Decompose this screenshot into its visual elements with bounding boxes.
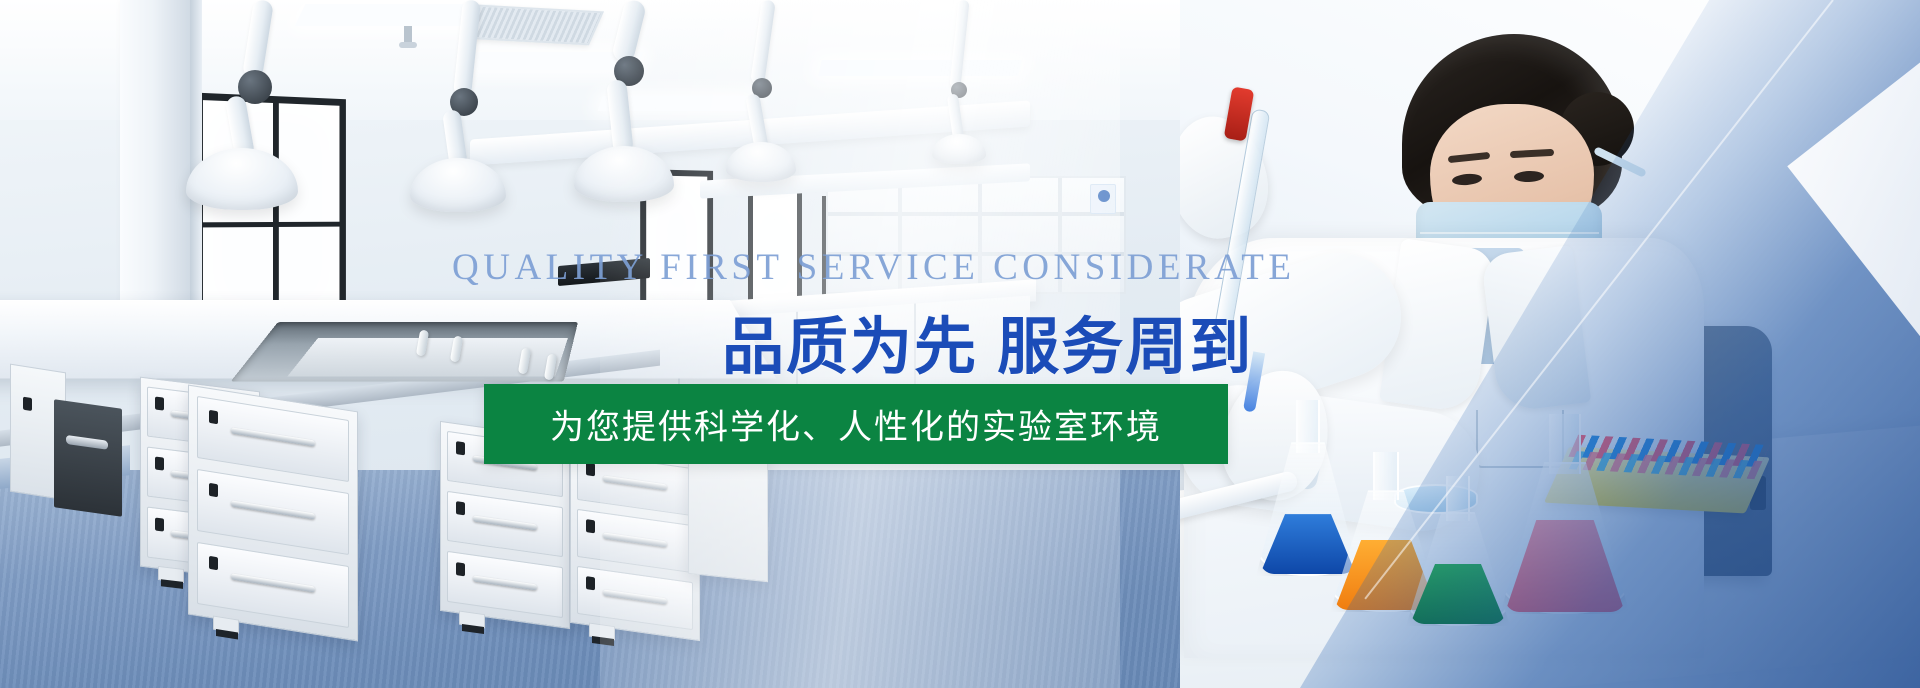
- lab-technician-photo: [1180, 0, 1920, 688]
- drawer-cabinet: [570, 443, 700, 641]
- ceiling-light-panel: [818, 60, 1021, 76]
- hero-banner: QUALITY FIRST SERVICE CONSIDERATE 品质为先 服…: [0, 0, 1920, 688]
- structural-column: [120, 0, 192, 320]
- subline-chinese: 为您提供科学化、人性化的实验室环境: [550, 400, 1162, 449]
- window: [196, 93, 346, 330]
- drawer-cabinet: [188, 385, 358, 642]
- tagline-english: QUALITY FIRST SERVICE CONSIDERATE: [452, 246, 1272, 289]
- safety-sign-icon: [1090, 184, 1116, 214]
- under-bench-equipment: [54, 399, 122, 517]
- headline-chinese: 品质为先 服务周到: [722, 296, 1253, 386]
- subline-green-banner: 为您提供科学化、人性化的实验室环境: [484, 384, 1228, 464]
- fire-sprinkler-icon: [404, 26, 412, 44]
- air-vent-grille: [464, 5, 604, 46]
